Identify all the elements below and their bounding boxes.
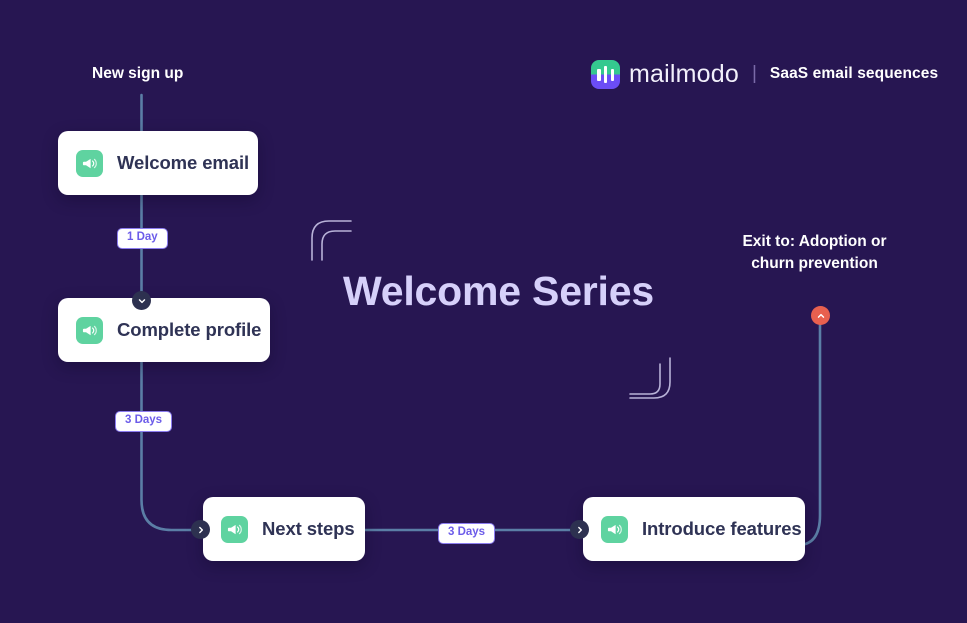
flow-canvas: mailmodo | SaaS email sequences Welcome … — [0, 0, 967, 623]
wire-profile-to-next — [142, 362, 206, 530]
megaphone-icon — [76, 150, 103, 177]
chevron-down-icon — [137, 296, 147, 306]
node-complete-profile[interactable] — [132, 291, 151, 310]
delay-badge-next-to-introduce[interactable]: 3 Days — [438, 523, 495, 544]
step-label: Introduce features — [642, 518, 802, 540]
mailmodo-logo-icon — [591, 60, 620, 89]
step-label: Welcome email — [117, 152, 249, 174]
brand-name: mailmodo — [629, 60, 739, 89]
megaphone-icon — [221, 516, 248, 543]
step-label: Complete profile — [117, 319, 261, 341]
chevron-right-icon — [575, 525, 585, 535]
exit-label: Exit to: Adoption or churn prevention — [714, 231, 915, 275]
node-next-steps[interactable] — [191, 520, 210, 539]
megaphone-icon — [76, 317, 103, 344]
step-card-complete-profile[interactable]: Complete profile — [58, 298, 270, 362]
chevron-up-icon — [816, 311, 826, 321]
brand-header: mailmodo | SaaS email sequences — [591, 59, 938, 89]
step-label: Next steps — [262, 518, 355, 540]
chevron-right-icon — [196, 525, 206, 535]
exit-label-line2: churn prevention — [751, 255, 878, 272]
brand-tagline: SaaS email sequences — [770, 65, 938, 83]
entry-label: New sign up — [92, 65, 183, 83]
step-card-next-steps[interactable]: Next steps — [203, 497, 365, 561]
step-card-welcome-email[interactable]: Welcome email — [58, 131, 258, 195]
step-card-introduce-features[interactable]: Introduce features — [583, 497, 805, 561]
delay-badge-profile-to-next[interactable]: 3 Days — [115, 411, 172, 432]
exit-label-line1: Exit to: Adoption or — [742, 233, 886, 250]
node-introduce-features[interactable] — [570, 520, 589, 539]
megaphone-icon — [601, 516, 628, 543]
brand-separator: | — [752, 63, 757, 85]
deco-corner-bottom-right-icon — [627, 356, 675, 406]
delay-badge-welcome-to-profile[interactable]: 1 Day — [117, 228, 168, 249]
deco-corner-top-left-icon — [307, 219, 355, 263]
node-exit[interactable] — [811, 306, 830, 325]
page-title: Welcome Series — [343, 268, 654, 315]
